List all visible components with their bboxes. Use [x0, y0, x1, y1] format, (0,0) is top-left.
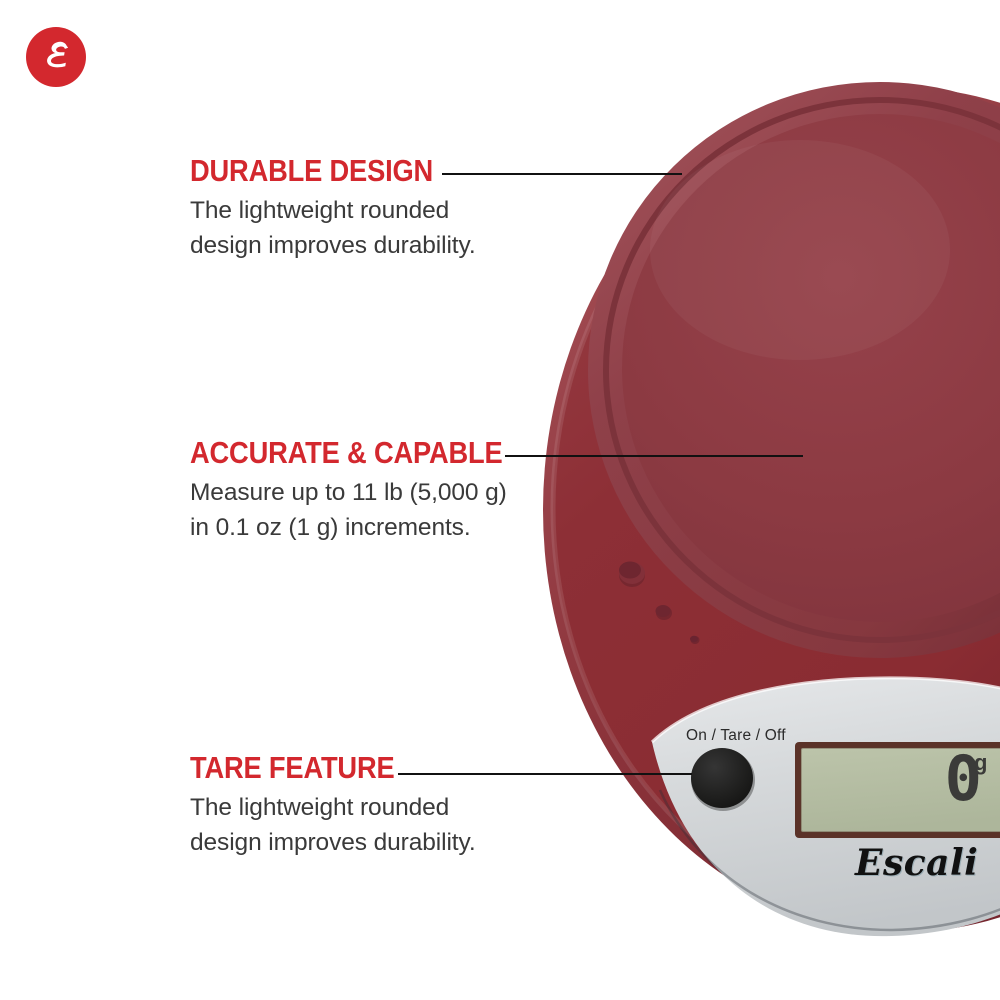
feature-body-durable: The lightweight rounded design improves …: [190, 194, 520, 264]
product-feature-infographic: DURABLE DESIGN The lightweight rounded d…: [0, 0, 1000, 1000]
feature-title-durable: DURABLE DESIGN: [190, 155, 480, 186]
lcd-unit-label: g: [974, 752, 987, 774]
feature-callout-durable: DURABLE DESIGN The lightweight rounded d…: [190, 155, 520, 264]
feature-body-tare: The lightweight rounded design improves …: [190, 791, 520, 861]
feature-body-accurate: Measure up to 11 lb (5,000 g) in 0.1 oz …: [190, 476, 520, 546]
on-tare-off-label: On / Tare / Off: [686, 727, 786, 745]
feature-title-tare: TARE FEATURE: [190, 752, 480, 783]
on-tare-off-button: [691, 748, 755, 811]
weighing-platform: [588, 82, 1000, 658]
vent-holes: [619, 562, 700, 645]
feature-title-accurate: ACCURATE & CAPABLE: [190, 437, 480, 468]
escali-wordmark: Escali: [855, 845, 978, 881]
feature-callout-tare: TARE FEATURE The lightweight rounded des…: [190, 752, 520, 861]
feature-callout-accurate: ACCURATE & CAPABLE Measure up to 11 lb (…: [190, 437, 520, 546]
leader-line-accurate: [505, 455, 803, 457]
escali-logo-icon: [26, 27, 86, 87]
